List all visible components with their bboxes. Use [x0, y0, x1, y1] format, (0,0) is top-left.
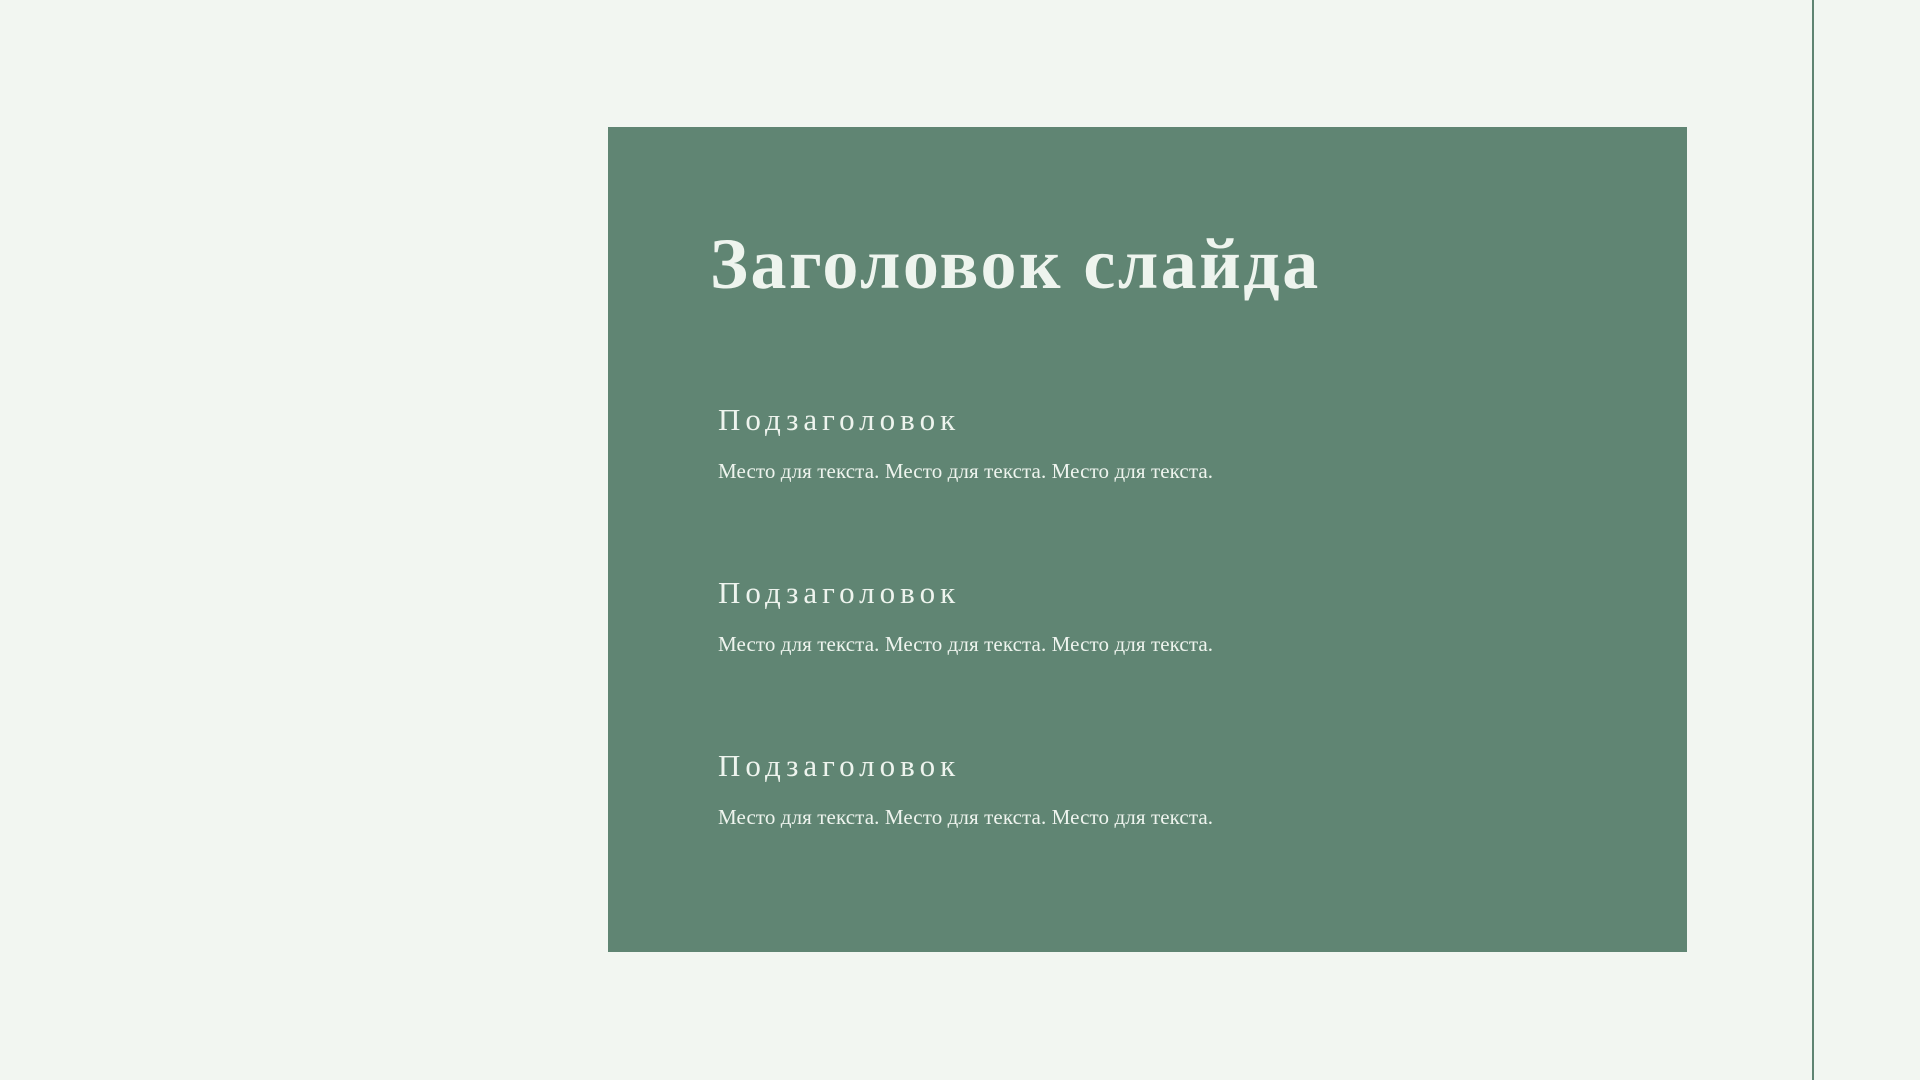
slide-title[interactable]: Заголовок слайда	[710, 227, 1321, 303]
slide-canvas: Заголовок слайда Подзаголовок Место для …	[0, 0, 1920, 1080]
section-block[interactable]: Подзаголовок Место для текста. Место для…	[718, 576, 1647, 749]
section-subtitle[interactable]: Подзаголовок	[718, 403, 1647, 437]
page-edge-rule	[1812, 0, 1814, 1080]
section-block[interactable]: Подзаголовок Место для текста. Место для…	[718, 749, 1647, 922]
section-list: Подзаголовок Место для текста. Место для…	[718, 403, 1647, 922]
section-block[interactable]: Подзаголовок Место для текста. Место для…	[718, 403, 1647, 576]
slide-content-panel[interactable]: Заголовок слайда Подзаголовок Место для …	[608, 127, 1687, 952]
section-subtitle[interactable]: Подзаголовок	[718, 576, 1647, 610]
section-body-text[interactable]: Место для текста. Место для текста. Мест…	[718, 610, 1647, 657]
section-body-text[interactable]: Место для текста. Место для текста. Мест…	[718, 783, 1647, 830]
section-body-text[interactable]: Место для текста. Место для текста. Мест…	[718, 437, 1647, 484]
section-subtitle[interactable]: Подзаголовок	[718, 749, 1647, 783]
panel-inner: Заголовок слайда Подзаголовок Место для …	[718, 127, 1647, 952]
